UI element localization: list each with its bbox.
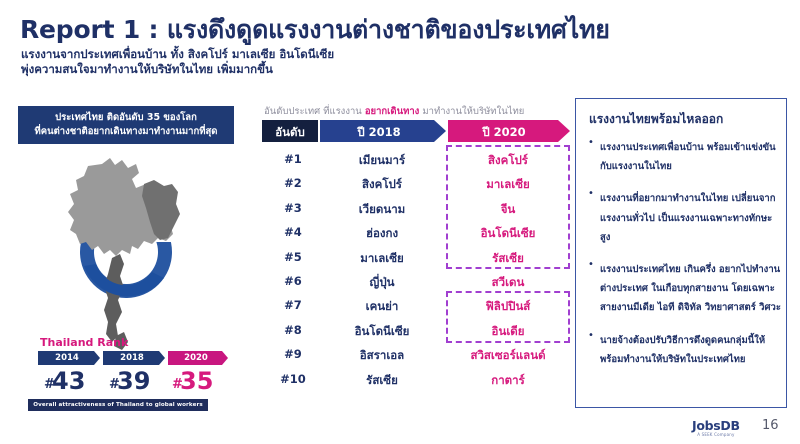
cell-2018: เคนย่า — [322, 298, 442, 316]
table-col-2018: ปี 2018 — [320, 124, 438, 142]
cell-2018: เมียนมาร์ — [322, 152, 442, 170]
cell-2020: อินโดนีเซีย — [448, 225, 568, 243]
table-row: #4 ฮ่องกง อินโดนีเซีย — [262, 221, 570, 245]
table-body: #1 เมียนมาร์ สิงคโปร์ #2 สิงคโปร์ มาเลเซ… — [262, 148, 570, 392]
table-row: #8 อินโดนีเซีย อินเดีย — [262, 319, 570, 343]
cell-2020: จีน — [448, 201, 568, 219]
list-item: • แรงงานประเทศไทย เกินครึ่ง อยากไปทำงานต… — [586, 257, 782, 315]
table-kicker-post: มาทำงานให้บริษัทในไทย — [419, 106, 524, 117]
list-item: • แรงงานที่อยากมาทำงานในไทย เปลี่ยนจากแร… — [586, 186, 782, 244]
table-row: #2 สิงคโปร์ มาเลเซีย — [262, 172, 570, 196]
bullet-text: แรงงานประเทศไทย เกินครึ่ง อยากไปทำงานต่า… — [600, 264, 781, 313]
rank-timeline-bar: 2014 2018 2020 — [38, 351, 228, 365]
subtitle-line-1: แรงงานจากประเทศเพื่อนบ้าน ทั้ง สิงคโปร์ … — [21, 47, 334, 62]
cell-rank: #6 — [270, 274, 316, 288]
cell-2018: มาเลเซีย — [322, 250, 442, 268]
table-row: #10 รัสเซีย กาตาร์ — [262, 368, 570, 392]
cell-2020: สวีเดน — [448, 274, 568, 292]
rank-values: # 43 # 39 # 35 — [38, 367, 228, 397]
rank-value-2020: 35 — [180, 367, 213, 395]
cell-rank: #7 — [270, 298, 316, 312]
map-caption-line-1: ประเทศไทย ติดอันดับ 35 ของโลก — [20, 111, 232, 125]
thailand-map-image — [18, 146, 234, 361]
map-caption: ประเทศไทย ติดอันดับ 35 ของโลก ที่คนต่างช… — [18, 106, 234, 144]
table-row: #9 อิสราเอล สวิสเซอร์แลนด์ — [262, 343, 570, 367]
cell-rank: #4 — [270, 225, 316, 239]
cell-2018: ญี่ปุ่น — [322, 274, 442, 292]
bullet-text: แรงงานประเทศเพื่อนบ้าน พร้อมเข้าแข่งขันก… — [600, 142, 776, 172]
cell-2018: เวียดนาม — [322, 201, 442, 219]
cell-2020: สวิสเซอร์แลนด์ — [448, 347, 568, 365]
insights-panel: แรงงานไทยพร้อมไหลออก • แรงงานประเทศเพื่อ… — [575, 98, 787, 408]
ranking-table-panel: อันดับประเทศ ที่แรงงาน อยากเดินทาง มาทำง… — [262, 104, 570, 404]
cell-2018: สิงคโปร์ — [322, 176, 442, 194]
bullet-dot-icon: • — [588, 329, 594, 342]
bullet-dot-icon: • — [588, 136, 594, 149]
table-row: #3 เวียดนาม จีน — [262, 197, 570, 221]
page-number: 16 — [762, 418, 779, 433]
bullet-dot-icon: • — [588, 258, 594, 271]
cell-rank: #5 — [270, 250, 316, 264]
list-item: • นายจ้างต้องปรับวิธีการดึงดูดคนกลุ่มนี้… — [586, 328, 782, 366]
table-row: #6 ญี่ปุ่น สวีเดน — [262, 270, 570, 294]
table-row: #7 เคนย่า ฟิลิปปินส์ — [262, 294, 570, 318]
bullet-text: นายจ้างต้องปรับวิธีการดึงดูดคนกลุ่มนี้ให… — [600, 335, 765, 365]
slide-root: Report 1 : แรงดึงดูดแรงงานต่างชาติของประ… — [0, 0, 800, 444]
cell-2018: อิสราเอล — [322, 347, 442, 365]
cell-rank: #2 — [270, 176, 316, 190]
thailand-rank-label: Thailand Rank — [40, 336, 128, 349]
cell-rank: #9 — [270, 347, 316, 361]
page-title: Report 1 : แรงดึงดูดแรงงานต่างชาติของประ… — [20, 10, 610, 50]
list-item: • แรงงานประเทศเพื่อนบ้าน พร้อมเข้าแข่งขั… — [586, 135, 782, 173]
table-col-rank: อันดับ — [262, 124, 318, 142]
cell-2018: ฮ่องกง — [322, 225, 442, 243]
bullet-dot-icon: • — [588, 187, 594, 200]
table-row: #1 เมียนมาร์ สิงคโปร์ — [262, 148, 570, 172]
page-subtitle: แรงงานจากประเทศเพื่อนบ้าน ทั้ง สิงคโปร์ … — [21, 47, 334, 77]
rank-year-2014: 2014 — [38, 353, 96, 363]
cell-rank: #8 — [270, 323, 316, 337]
table-row: #5 มาเลเซีย รัสเซีย — [262, 246, 570, 270]
cell-2020: กาตาร์ — [448, 372, 568, 390]
jobsdb-logo: JobsDB A SEEK Company — [692, 418, 740, 437]
cell-2020: สิงคโปร์ — [448, 152, 568, 170]
bullet-text: แรงงานที่อยากมาทำงานในไทย เปลี่ยนจากแรงง… — [600, 193, 775, 242]
jobsdb-wordmark: JobsDB — [692, 418, 740, 433]
subtitle-line-2: พุ่งความสนใจมาทำงานให้บริษัทในไทย เพิ่มม… — [21, 62, 334, 77]
cell-rank: #3 — [270, 201, 316, 215]
cell-rank: #1 — [270, 152, 316, 166]
cell-2020: รัสเซีย — [448, 250, 568, 268]
rank-value-2014: 43 — [52, 367, 85, 395]
cell-2018: อินโดนีเซีย — [322, 323, 442, 341]
insights-bullet-list: • แรงงานประเทศเพื่อนบ้าน พร้อมเข้าแข่งขั… — [586, 135, 782, 379]
cell-2020: อินเดีย — [448, 323, 568, 341]
insights-title: แรงงานไทยพร้อมไหลออก — [589, 110, 723, 129]
rank-value-2018: 39 — [117, 367, 150, 395]
cell-2020: ฟิลิปปินส์ — [448, 298, 568, 316]
cell-rank: #10 — [270, 372, 316, 386]
table-header: อันดับ ปี 2018 ปี 2020 — [262, 120, 570, 142]
rank-year-2018: 2018 — [103, 353, 161, 363]
thailand-map-icon — [18, 146, 234, 361]
table-kicker: อันดับประเทศ ที่แรงงาน อยากเดินทาง มาทำง… — [264, 104, 524, 119]
jobsdb-tagline: A SEEK Company — [692, 432, 740, 437]
table-kicker-bold: อยากเดินทาง — [365, 106, 420, 117]
map-panel: ประเทศไทย ติดอันดับ 35 ของโลก ที่คนต่างช… — [18, 106, 234, 416]
table-kicker-pre: อันดับประเทศ ที่แรงงาน — [264, 106, 365, 117]
cell-2018: รัสเซีย — [322, 372, 442, 390]
table-col-2020: ปี 2020 — [448, 124, 560, 142]
rank-year-2020: 2020 — [168, 353, 224, 363]
map-caption-line-2: ที่คนต่างชาติอยากเดินทางมาทำงานมากที่สุด — [20, 125, 232, 139]
cell-2020: มาเลเซีย — [448, 176, 568, 194]
map-footer-note: Overall attractiveness of Thailand to gl… — [28, 399, 208, 411]
